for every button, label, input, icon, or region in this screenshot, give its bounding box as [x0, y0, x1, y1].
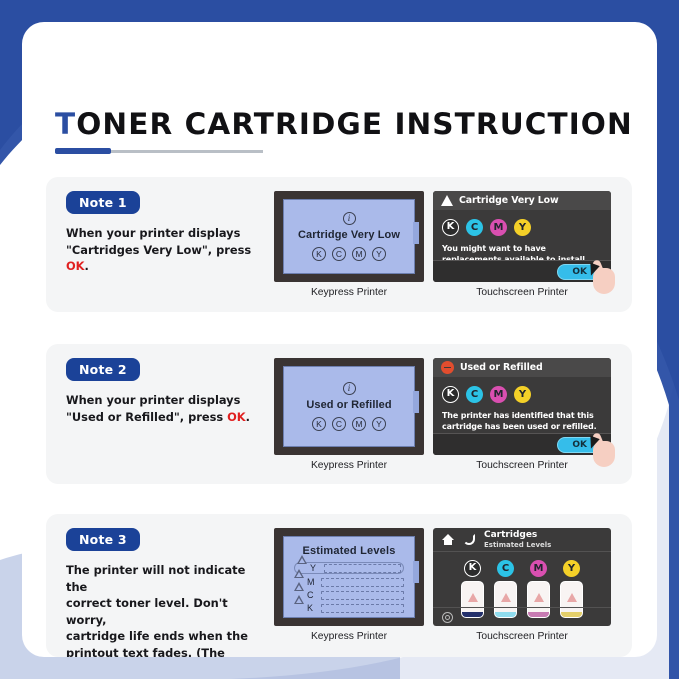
- cartridge-chip-m: M: [530, 560, 547, 577]
- keypress-cmyk-row-2: K C M Y: [312, 417, 386, 431]
- kp-dot-m: M: [352, 247, 366, 261]
- note-2-text-block: Note 2 When your printer displays "Used …: [66, 358, 258, 425]
- note-card-3: Note 3 The printer will not indicate the…: [46, 514, 632, 657]
- keypress-screen-3: Estimated Levels Y M: [283, 536, 415, 618]
- warning-triangle-icon: [501, 593, 511, 602]
- cartridge-chip-k: K: [464, 560, 481, 577]
- keypress-device-1: i Cartridge Very Low K C M Y: [274, 191, 424, 282]
- note-2-ok-keyword: OK: [227, 410, 246, 424]
- note-card-1: Note 1 When your printer displays "Cartr…: [46, 177, 632, 312]
- level-row-y: Y: [294, 562, 404, 574]
- level-label-m: M: [307, 577, 318, 587]
- note-2-line-2-end: .: [246, 410, 250, 424]
- note-3-keypress-caption: Keypress Printer: [274, 631, 424, 642]
- note-2-keypress-caption: Keypress Printer: [274, 460, 424, 471]
- note-3-touchscreen-printer: Cartridges Estimated Levels K: [433, 528, 611, 642]
- touchscreen-device-3: Cartridges Estimated Levels K: [433, 528, 611, 626]
- page-title-lead: T: [55, 107, 76, 141]
- warning-triangle-icon: [294, 604, 304, 613]
- keypress-cmyk-row-1: K C M Y: [312, 247, 386, 261]
- note-2-badge: Note 2: [66, 358, 140, 381]
- info-icon: i: [343, 212, 356, 225]
- level-bar-m: [321, 578, 404, 587]
- note-1-line-2-end: .: [85, 259, 89, 273]
- note-1-keypress-caption: Keypress Printer: [274, 287, 424, 298]
- cmyk-chip-y: Y: [514, 386, 531, 403]
- level-label-c: C: [307, 590, 318, 600]
- keypress-device-3: Estimated Levels Y M: [274, 528, 424, 626]
- note-2-touchscreen-caption: Touchscreen Printer: [433, 460, 611, 471]
- keypress-device-2: i Used or Refilled K C M Y: [274, 358, 424, 455]
- note-3-description: The printer will not indicate the correc…: [66, 562, 258, 657]
- cmyk-chip-m: M: [490, 386, 507, 403]
- kp-dot-c: C: [332, 247, 346, 261]
- kp-dot-c: C: [332, 417, 346, 431]
- cartridge-chip-y: Y: [563, 560, 580, 577]
- touchscreen-header-title-2: Used or Refilled: [460, 362, 543, 373]
- touchscreen-cmyk-row-2: K C M Y: [442, 386, 602, 403]
- kp-dot-y: Y: [372, 247, 386, 261]
- page-title: TONER CARTRIDGE INSTRUCTION: [55, 107, 633, 141]
- kp-dot-y: Y: [372, 417, 386, 431]
- touchscreen-screen-2: Used or Refilled K C M Y The printer has…: [433, 358, 611, 455]
- level-bar-k: [321, 604, 404, 613]
- note-3-touchscreen-caption: Touchscreen Printer: [433, 631, 611, 642]
- instruction-page: TONER CARTRIDGE INSTRUCTION Note 1 When …: [22, 22, 657, 657]
- touchscreen-screen-1: Cartridge Very Low K C M Y You might wan…: [433, 191, 611, 282]
- note-3-keypress-printer: Estimated Levels Y M: [274, 528, 424, 642]
- keypress-screen-2: i Used or Refilled K C M Y: [283, 366, 415, 447]
- touchscreen-screen-3: Cartridges Estimated Levels K: [433, 528, 611, 626]
- kp-dot-k: K: [312, 247, 326, 261]
- level-row-k: K: [294, 603, 404, 613]
- touchscreen-footer-2: OK: [433, 433, 611, 455]
- note-2-touchscreen-printer: Used or Refilled K C M Y The printer has…: [433, 358, 611, 471]
- note-1-ok-keyword: OK: [66, 259, 85, 273]
- cmyk-chip-y: Y: [514, 219, 531, 236]
- note-2-line-1: When your printer displays: [66, 393, 240, 407]
- warning-triangle-icon: [534, 593, 544, 602]
- note-card-2: Note 2 When your printer displays "Used …: [46, 344, 632, 484]
- note-3-text-block: Note 3 The printer will not indicate the…: [66, 528, 258, 657]
- level-label-y: Y: [310, 563, 321, 573]
- kp-dot-m: M: [352, 417, 366, 431]
- minus-circle-icon: [441, 361, 454, 374]
- keypress-message-1: Cartridge Very Low: [298, 229, 400, 241]
- kp-dot-k: K: [312, 417, 326, 431]
- note-1-line-1: When your printer displays: [66, 226, 240, 240]
- keypress-screen-1: i Cartridge Very Low K C M Y: [283, 199, 415, 274]
- touchscreen-title-group-3: Cartridges Estimated Levels: [484, 530, 551, 548]
- cmyk-chip-c: C: [466, 386, 483, 403]
- warning-triangle-icon: [468, 593, 478, 602]
- touchscreen-footer-1: OK: [433, 260, 611, 282]
- note-3-line-2: correct toner level. Don't worry,: [66, 596, 228, 627]
- cmyk-chip-c: C: [466, 219, 483, 236]
- estimated-levels-rows: Y M C: [284, 562, 414, 616]
- touchscreen-subtitle-3: Estimated Levels: [484, 541, 551, 549]
- note-2-keypress-printer: i Used or Refilled K C M Y Keypress Prin…: [274, 358, 424, 471]
- note-3-line-1: The printer will not indicate the: [66, 563, 245, 594]
- warning-triangle-icon: [567, 593, 577, 602]
- note-1-description: When your printer displays "Cartridges V…: [66, 225, 258, 275]
- touchscreen-header-2: Used or Refilled: [433, 358, 611, 377]
- note-2-description: When your printer displays "Used or Refi…: [66, 392, 258, 425]
- home-icon[interactable]: [442, 534, 454, 545]
- estimated-levels-title: Estimated Levels: [302, 545, 395, 557]
- level-row-m: M: [294, 577, 404, 587]
- title-divider-accent: [55, 148, 111, 154]
- level-label-k: K: [307, 603, 318, 613]
- level-row-c: C: [294, 590, 404, 600]
- info-icon: i: [343, 382, 356, 395]
- note-1-line-2: "Cartridges Very Low", press: [66, 243, 251, 257]
- gear-icon[interactable]: [442, 612, 453, 623]
- touchscreen-cmyk-row-1: K C M Y: [442, 219, 602, 236]
- touchscreen-title-3: Cartridges: [484, 530, 551, 540]
- note-3-line-4: printout text fades. (The indication: [66, 646, 225, 657]
- cmyk-chip-m: M: [490, 219, 507, 236]
- page-title-rest: ONER CARTRIDGE INSTRUCTION: [76, 107, 633, 141]
- cartridge-chip-c: C: [497, 560, 514, 577]
- back-arrow-icon[interactable]: [463, 534, 475, 545]
- touchscreen-device-1: Cartridge Very Low K C M Y You might wan…: [433, 191, 611, 282]
- warning-triangle-icon: [441, 195, 453, 206]
- touchscreen-footer-3: [433, 607, 611, 626]
- level-bar-c: [321, 591, 404, 600]
- touchscreen-header-3: Cartridges Estimated Levels: [433, 528, 611, 552]
- note-1-touchscreen-caption: Touchscreen Printer: [433, 287, 611, 298]
- touchscreen-header-1: Cartridge Very Low: [433, 191, 611, 210]
- note-1-keypress-printer: i Cartridge Very Low K C M Y Keypress Pr…: [274, 191, 424, 298]
- note-3-badge: Note 3: [66, 528, 140, 551]
- keypress-message-2: Used or Refilled: [306, 399, 391, 411]
- note-2-line-2: "Used or Refilled", press: [66, 410, 227, 424]
- note-1-badge: Note 1: [66, 191, 140, 214]
- note-1-touchscreen-printer: Cartridge Very Low K C M Y You might wan…: [433, 191, 611, 298]
- touchscreen-header-title-1: Cartridge Very Low: [459, 195, 559, 206]
- cmyk-chip-k: K: [442, 219, 459, 236]
- cmyk-chip-k: K: [442, 386, 459, 403]
- level-bar-y: [324, 564, 401, 573]
- note-1-text-block: Note 1 When your printer displays "Cartr…: [66, 191, 258, 275]
- touchscreen-device-2: Used or Refilled K C M Y The printer has…: [433, 358, 611, 455]
- note-3-line-3: cartridge life ends when the: [66, 629, 248, 643]
